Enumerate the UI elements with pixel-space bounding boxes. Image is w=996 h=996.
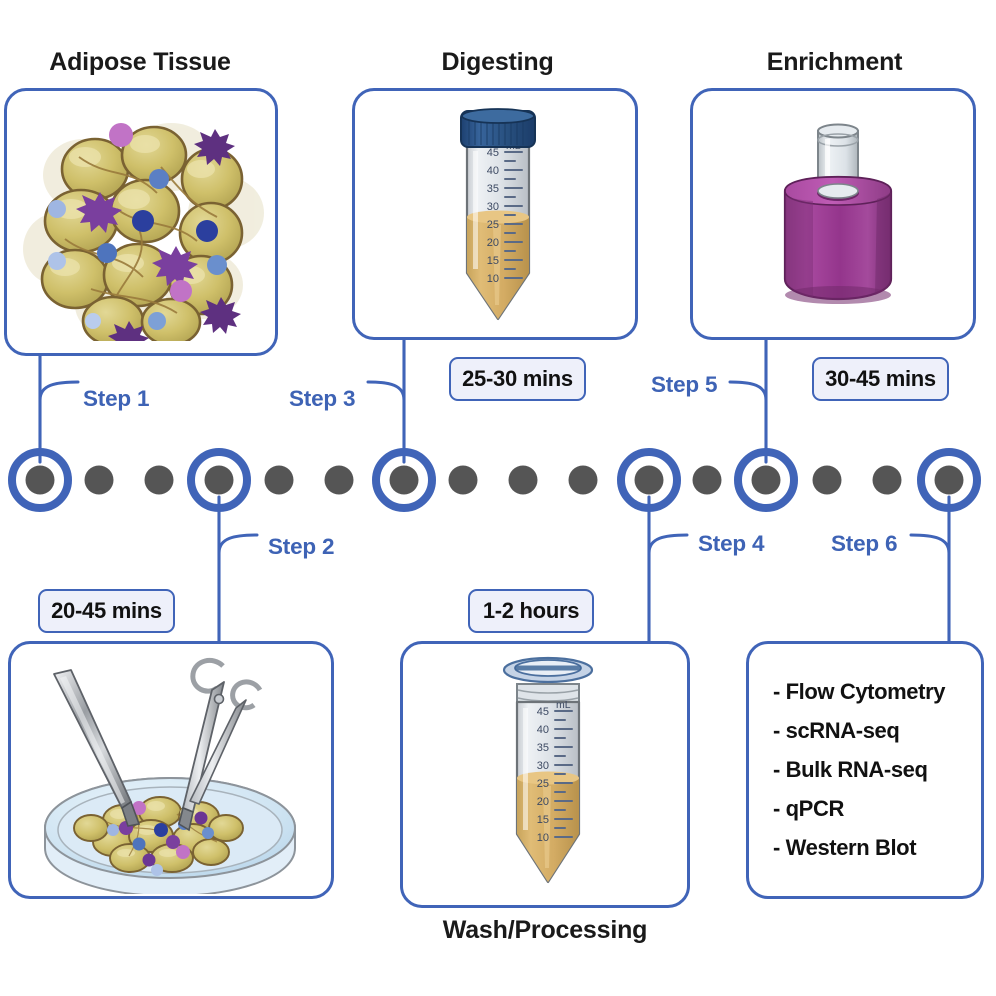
svg-text:30: 30 <box>487 201 499 213</box>
step-label-1: Step 1 <box>83 386 149 412</box>
step-label-4: Step 4 <box>698 531 764 557</box>
svg-text:20: 20 <box>537 796 549 808</box>
svg-text:10: 10 <box>537 832 549 844</box>
step-label-6: Step 6 <box>831 531 897 557</box>
timeline-milestone-6 <box>921 452 977 508</box>
analysis-method-item: - scRNA-seq <box>773 720 981 742</box>
svg-text:40: 40 <box>487 165 499 177</box>
panel-wash-processing: 4540 3530 2520 1510 mL <box>400 641 690 908</box>
analysis-method-item: - qPCR <box>773 798 981 820</box>
panel-title-enrichment: Enrichment <box>692 48 977 77</box>
svg-text:mL: mL <box>556 699 571 711</box>
svg-text:15: 15 <box>487 255 499 267</box>
timeline-milestone-3 <box>376 452 432 508</box>
analysis-method-item: - Western Blot <box>773 837 981 859</box>
step-label-2: Step 2 <box>268 534 334 560</box>
step-label-5: Step 5 <box>651 372 717 398</box>
timeline-milestone-1 <box>12 452 68 508</box>
panel-enrichment <box>690 88 976 340</box>
magnetic-separator-icon <box>755 109 921 319</box>
svg-text:35: 35 <box>487 183 499 195</box>
analysis-method-item: - Bulk RNA-seq <box>773 759 981 781</box>
svg-text:30: 30 <box>537 760 549 772</box>
step-label-3: Step 3 <box>289 386 355 412</box>
svg-text:25: 25 <box>537 778 549 790</box>
analysis-method-item: - Flow Cytometry <box>773 681 981 703</box>
petri-dish-with-forceps-icon <box>27 652 325 894</box>
workflow-diagram: Adipose Tissue Digesting Enrichment <box>0 0 996 996</box>
timeline-milestone-5 <box>738 452 794 508</box>
svg-text:45: 45 <box>537 706 549 718</box>
adipose-tissue-cluster-icon <box>21 109 267 341</box>
panel-digesting: 4540 3530 2520 1510 mL <box>352 88 638 340</box>
svg-text:45: 45 <box>487 147 499 159</box>
panel-title-wash-processing: Wash/Processing <box>400 916 690 945</box>
duration-badge-dissection: 20-45 mins <box>38 589 175 633</box>
timeline-milestone-2 <box>191 452 247 508</box>
svg-text:15: 15 <box>537 814 549 826</box>
duration-badge-enrichment: 30-45 mins <box>812 357 949 401</box>
svg-text:40: 40 <box>537 724 549 736</box>
svg-text:25: 25 <box>487 219 499 231</box>
timeline-milestone-4 <box>621 452 677 508</box>
panel-title-digesting: Digesting <box>355 48 640 77</box>
panel-dissection <box>8 641 334 899</box>
panel-analysis-methods: - Flow Cytometry - scRNA-seq - Bulk RNA-… <box>746 641 984 899</box>
duration-badge-digesting: 25-30 mins <box>449 357 586 401</box>
svg-text:35: 35 <box>537 742 549 754</box>
capped-conical-tube-icon: 4540 3530 2520 1510 mL <box>443 105 553 330</box>
panel-title-adipose: Adipose Tissue <box>0 48 280 77</box>
panel-adipose-tissue <box>4 88 278 356</box>
open-conical-tube-icon: 4540 3530 2520 1510 mL <box>489 650 607 902</box>
duration-badge-wash: 1-2 hours <box>468 589 594 633</box>
svg-text:10: 10 <box>487 273 499 285</box>
svg-text:20: 20 <box>487 237 499 249</box>
